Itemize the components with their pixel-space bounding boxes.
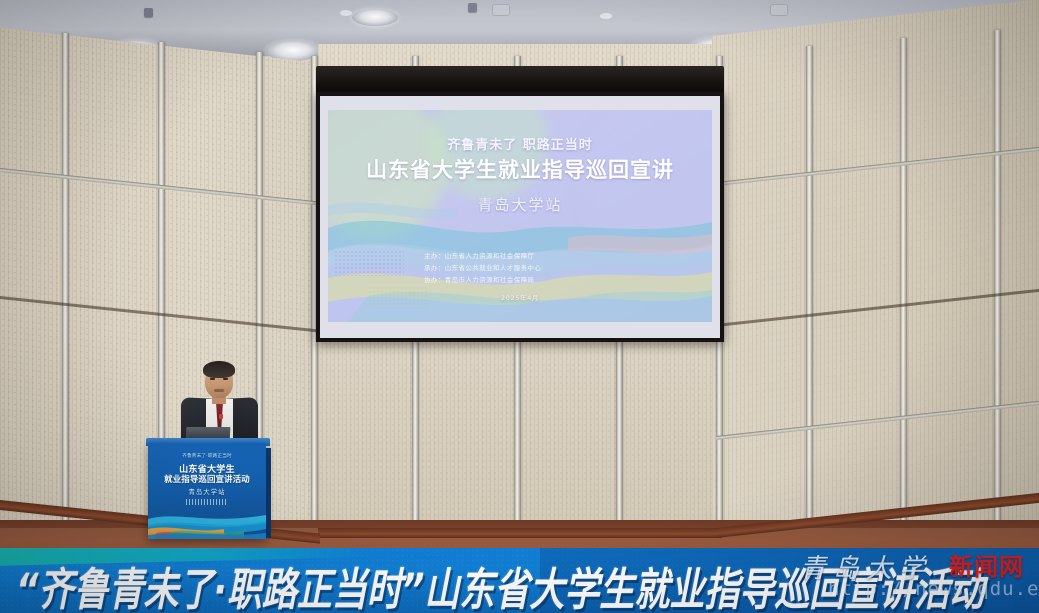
podium-line-2: 就业指导巡回宣讲活动 [148, 473, 266, 485]
wall-mullion [62, 33, 69, 534]
wall-mullion [900, 38, 907, 531]
podium: 齐鲁青未了·职路正当时 山东省大学生 就业指导巡回宣讲活动 青岛大学站 [148, 443, 266, 539]
speaker-eye [210, 378, 215, 380]
watermark-url: http://news.qdu.edu.cn [828, 578, 1039, 600]
slide-date: 2025年4月 [328, 292, 712, 302]
wall-panel-right [712, 0, 1039, 556]
speaker-hair [203, 361, 235, 378]
sprinkler-head [468, 3, 477, 12]
acoustic-perforation [712, 0, 1039, 556]
slide-organizer-line: 协办：青岛市人力资源和社会保障局 [424, 274, 534, 284]
speaker-eye [223, 378, 228, 380]
ceiling-fixture [340, 10, 352, 16]
watermark-news-label: 新闻网 [949, 547, 1024, 582]
wall-mullion [806, 46, 813, 537]
slide-subtitle: 青岛大学站 [328, 194, 712, 215]
slide-organizer-line: 主办：山东省人力资源和社会保障厅 [424, 250, 534, 260]
slide-title: 山东省大学生就业指导巡回宣讲 [328, 154, 712, 184]
slide-kicker: 齐鲁青未了 职路正当时 [328, 134, 712, 153]
slide-organizer-line: 承办：山东省公共就业和人才服务中心 [424, 262, 541, 272]
baseboard [318, 528, 722, 538]
ceiling-fixture [600, 13, 612, 19]
slide-halftone [334, 250, 404, 276]
speaker-mouth [214, 389, 224, 392]
sprinkler-head [144, 8, 153, 17]
photo-scene: 齐鲁青未了 职路正当时 山东省大学生就业指导巡回宣讲 青岛大学站 主办：山东省人… [0, 0, 1039, 613]
speaker-lapel-badge [219, 414, 223, 419]
ceiling-vent [492, 4, 510, 16]
wall-mullion [994, 30, 1001, 526]
ceiling-vent [770, 4, 788, 16]
banner-main-text: “齐鲁青未了·职路正当时”山东省大学生就业指导巡回宣讲活动 [16, 554, 896, 613]
presentation-slide: 齐鲁青未了 职路正当时 山东省大学生就业指导巡回宣讲 青岛大学站 主办：山东省人… [328, 110, 712, 322]
podium-line-3: 青岛大学站 [148, 487, 266, 496]
podium-kicker: 齐鲁青未了·职路正当时 [148, 453, 266, 459]
podium-wave-graphic [148, 505, 266, 539]
ceiling-downlight [352, 9, 398, 26]
